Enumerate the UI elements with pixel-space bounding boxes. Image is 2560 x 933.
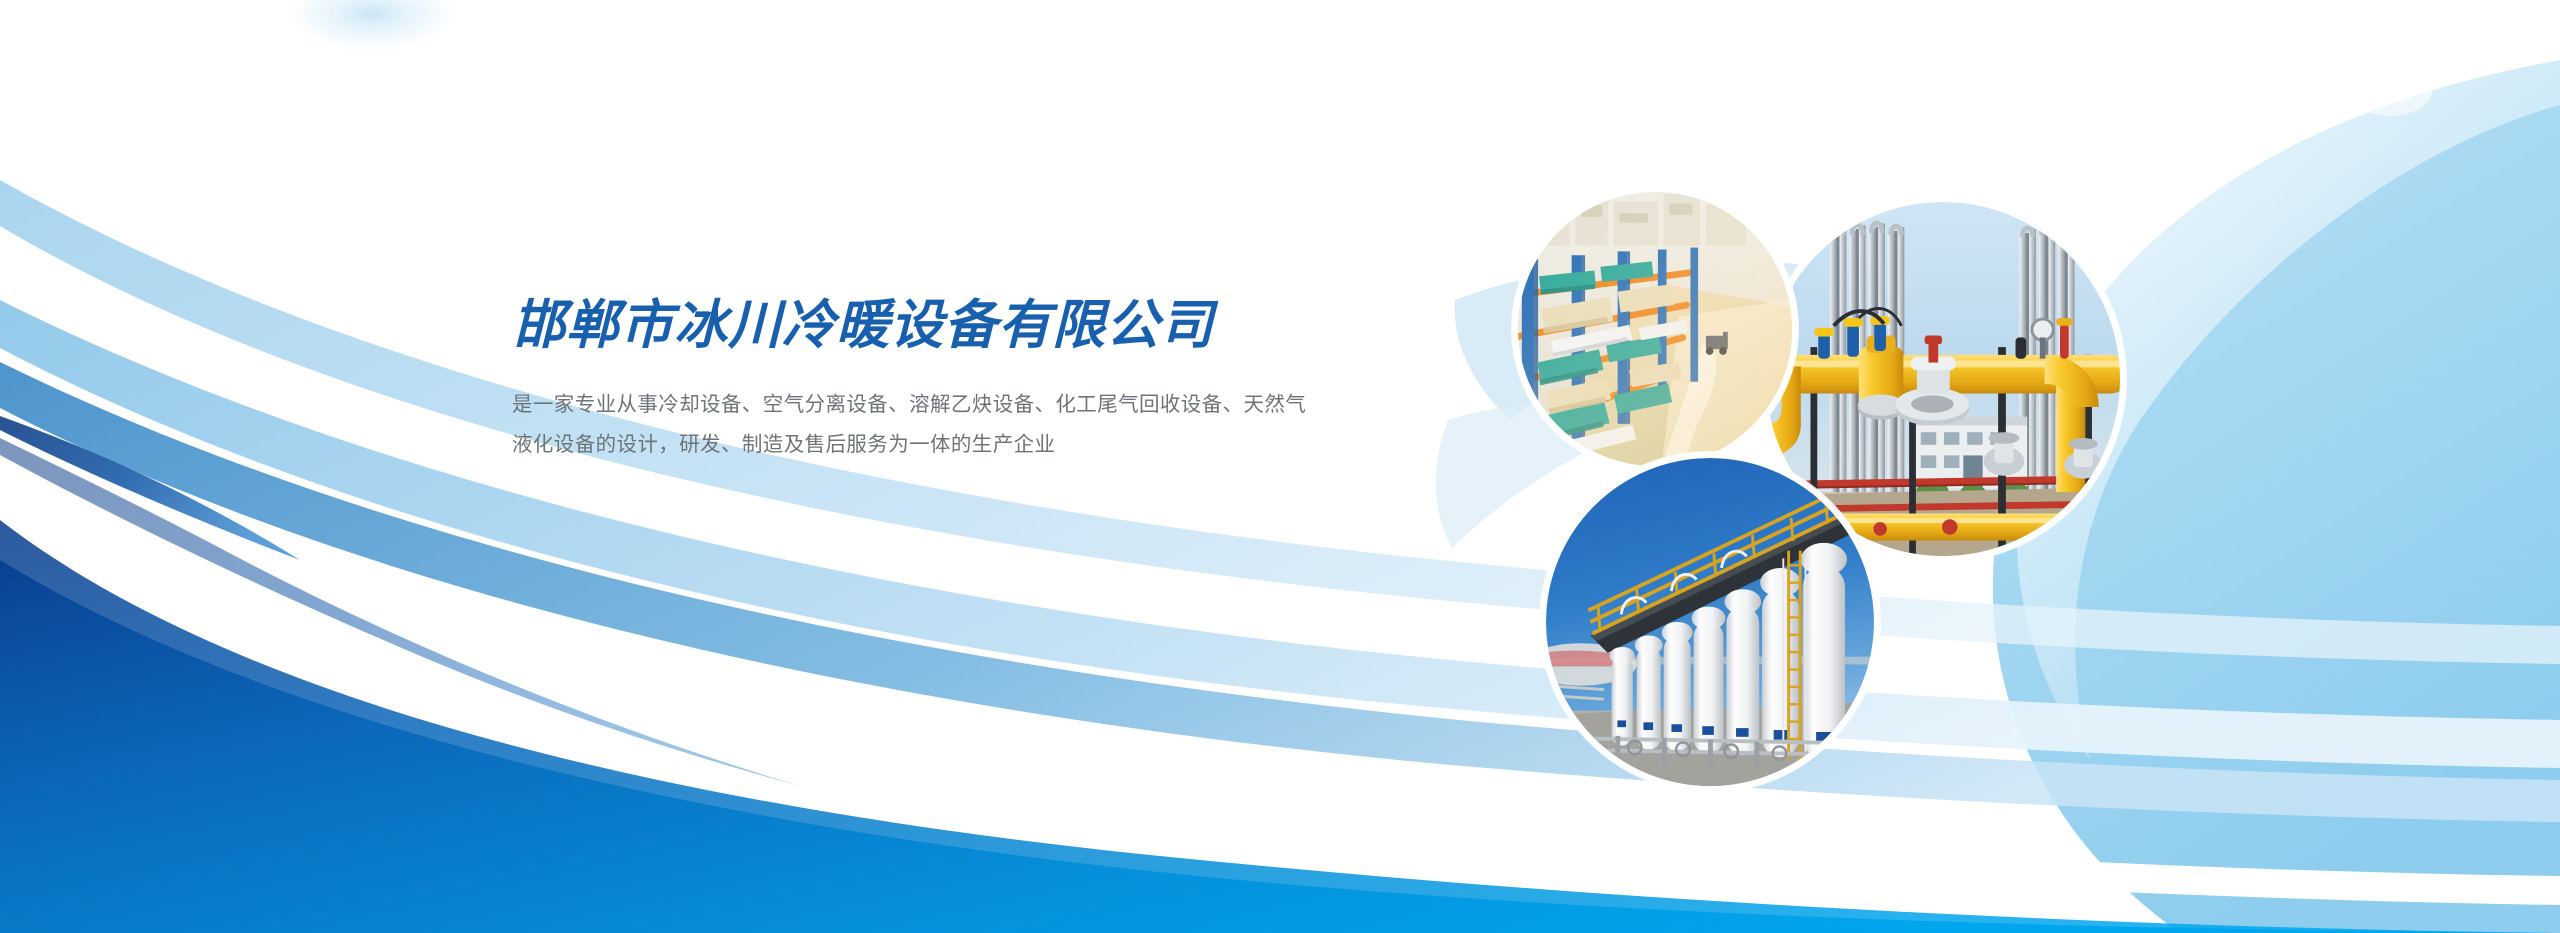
photo-tanks-image (1546, 458, 1874, 786)
photo-warehouse-image (1518, 192, 1792, 466)
wisp-decoration-icon (280, 0, 464, 54)
banner-text-block: 邯郸市冰川冷暖设备有限公司 是一家专业从事冷却设备、空气分离设备、溶解乙炔设备、… (512, 296, 1512, 465)
tanks-illustration (1546, 458, 1874, 786)
photo-cryogenic-storage-tanks (1540, 452, 1880, 792)
white-swoosh-divider (0, 470, 2560, 905)
company-description-line-2: 液化设备的设计，研发、制造及售后服务为一体的生产企业 (512, 425, 1502, 465)
company-banner: 邯郸市冰川冷暖设备有限公司 是一家专业从事冷却设备、空气分离设备、溶解乙炔设备、… (0, 0, 2560, 933)
photo-warehouse-storage-racks (1512, 186, 1798, 472)
company-description: 是一家专业从事冷却设备、空气分离设备、溶解乙炔设备、化工尾气回收设备、天然气 液… (512, 355, 1502, 465)
warehouse-illustration (1518, 192, 1792, 466)
bottom-blue-field (0, 560, 2560, 933)
bubble-highlight-icon (2348, 64, 2432, 116)
wave-band-navy-left (0, 416, 300, 560)
wave-band-navy-sweep (0, 438, 800, 786)
background-waves (0, 0, 2560, 933)
company-title: 邯郸市冰川冷暖设备有限公司 (512, 296, 1512, 355)
background-artwork (0, 0, 2560, 933)
company-description-line-1: 是一家专业从事冷却设备、空气分离设备、溶解乙炔设备、化工尾气回收设备、天然气 (512, 385, 1502, 425)
bottom-blue-field-overlay (0, 520, 2560, 933)
